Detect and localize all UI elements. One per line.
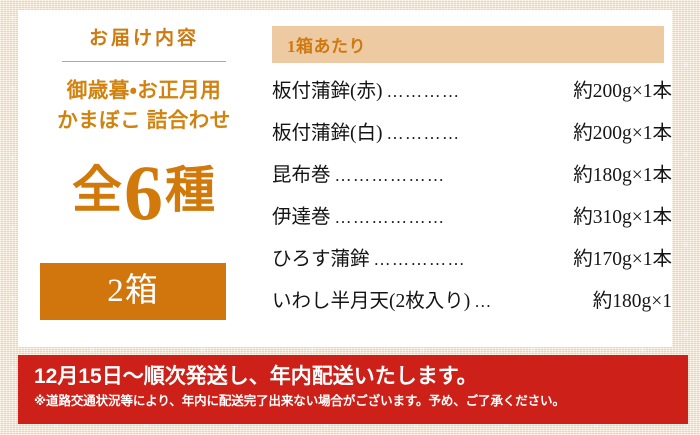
item-amount: 約200g×1本 (573, 74, 672, 103)
variety-count-number: 6 (124, 154, 164, 232)
product-info-graphic: お届け内容 御歳暮・お正月用 かまぼこ 詰合わせ 全 6 種 2箱 1箱あたり … (0, 0, 700, 435)
list-item: 板付蒲鉾(白) ………… 約200g×1本 (272, 116, 672, 158)
variety-count: 全 6 種 (18, 147, 270, 233)
product-title: 御歳暮・お正月用 かまぼこ 詰合わせ (18, 76, 270, 137)
item-amount: 約180g×1 (593, 284, 672, 313)
item-amount: 約200g×1本 (573, 116, 672, 145)
item-dot-leader: … (470, 292, 593, 312)
list-item: いわし半月天(2枚入り) … 約180g×1 (272, 284, 672, 326)
quantity-badge-label: 2箱 (107, 275, 159, 308)
heading-divider (62, 61, 226, 62)
item-dot-leader: …………… (370, 250, 574, 270)
list-item: 昆布巻 ……………… 約180g×1本 (272, 158, 672, 200)
box-contents-panel: 1箱あたり 板付蒲鉾(赤) ………… 約200g×1本 板付蒲鉾(白) …………… (270, 10, 672, 347)
item-name: 伊達巻 (272, 200, 331, 229)
per-box-header: 1箱あたり (272, 26, 664, 63)
item-name: 昆布巻 (272, 158, 331, 187)
item-name: 板付蒲鉾(赤) (272, 74, 383, 103)
variety-prefix-label: 全 (72, 165, 123, 215)
item-amount: 約180g×1本 (573, 158, 672, 187)
item-list: 板付蒲鉾(赤) ………… 約200g×1本 板付蒲鉾(白) ………… 約200g… (272, 74, 672, 326)
shipping-notice-headline: 12月15日〜順次発送し、年内配送いたします。 (34, 364, 688, 389)
list-item: ひろす蒲鉾 …………… 約170g×1本 (272, 242, 672, 284)
item-dot-leader: ……………… (331, 166, 574, 186)
item-name: いわし半月天(2枚入り) (272, 284, 470, 313)
item-dot-leader: ……………… (331, 208, 574, 228)
item-dot-leader: ………… (383, 124, 574, 144)
list-item: 板付蒲鉾(赤) ………… 約200g×1本 (272, 74, 672, 116)
content-card: お届け内容 御歳暮・お正月用 かまぼこ 詰合わせ 全 6 種 2箱 1箱あたり … (18, 10, 672, 347)
variety-suffix-label: 種 (165, 165, 216, 215)
per-box-header-label: 1箱あたり (287, 32, 366, 57)
shipping-notice-disclaimer: ※道路交通状況等により、年内に配送完了出来ない場合がございます。予め、ご了承くだ… (34, 394, 688, 410)
item-name: 板付蒲鉾(白) (272, 116, 383, 145)
delivery-contents-heading: お届け内容 (18, 29, 270, 50)
quantity-badge: 2箱 (40, 263, 226, 320)
shipping-notice-banner: 12月15日〜順次発送し、年内配送いたします。 ※道路交通状況等により、年内に配… (18, 355, 688, 424)
item-dot-leader: ………… (383, 82, 574, 102)
item-amount: 約310g×1本 (573, 200, 672, 229)
list-item: 伊達巻 ……………… 約310g×1本 (272, 200, 672, 242)
item-amount: 約170g×1本 (573, 242, 672, 271)
item-name: ひろす蒲鉾 (272, 242, 370, 271)
delivery-summary-panel: お届け内容 御歳暮・お正月用 かまぼこ 詰合わせ 全 6 種 2箱 (18, 10, 270, 347)
